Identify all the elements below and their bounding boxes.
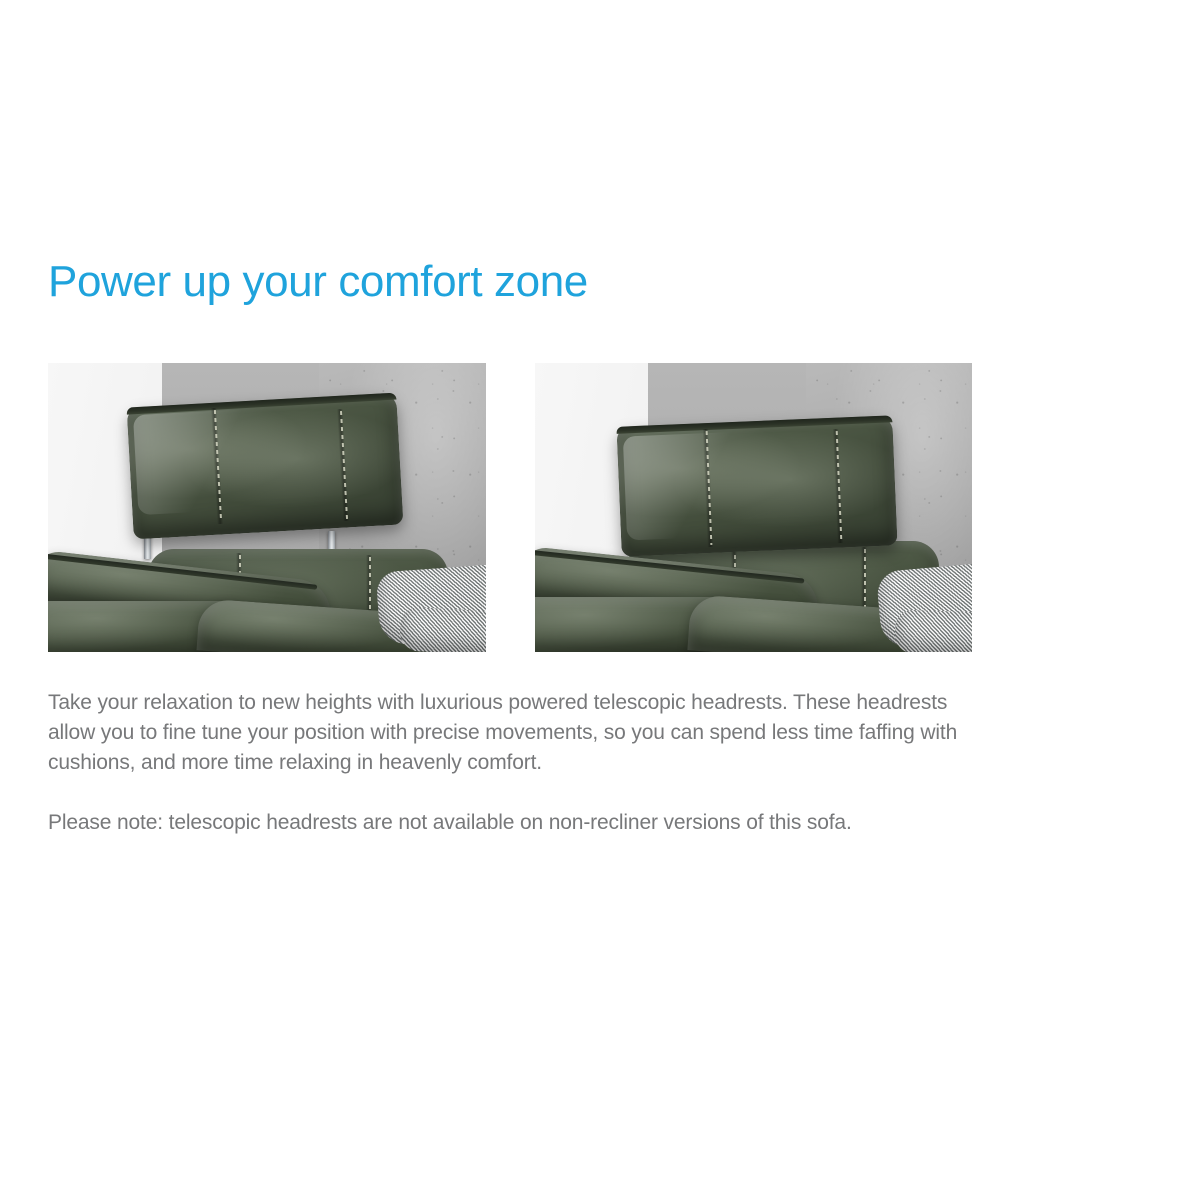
- body-paragraph: Take your relaxation to new heights with…: [48, 688, 978, 778]
- heading-block: Power up your comfort zone: [48, 258, 978, 306]
- telescopic-headrest-cushion: [616, 415, 897, 556]
- image-gallery: [48, 363, 972, 652]
- body-copy-block: Take your relaxation to new heights with…: [48, 688, 978, 838]
- body-note: Please note: telescopic headrests are no…: [48, 808, 978, 838]
- throw-blanket-fold: [399, 606, 486, 652]
- headrest-highlight: [622, 432, 742, 541]
- headrest-highlight: [133, 409, 258, 516]
- throw-blanket-fold: [894, 609, 972, 652]
- telescopic-headrest-cushion: [127, 393, 404, 540]
- marketing-page: Power up your comfort zone: [0, 0, 1200, 1200]
- page-title: Power up your comfort zone: [48, 258, 978, 306]
- sofa-photo-headrest-lowered: [535, 363, 973, 652]
- sofa-photo-headrest-raised: [48, 363, 486, 652]
